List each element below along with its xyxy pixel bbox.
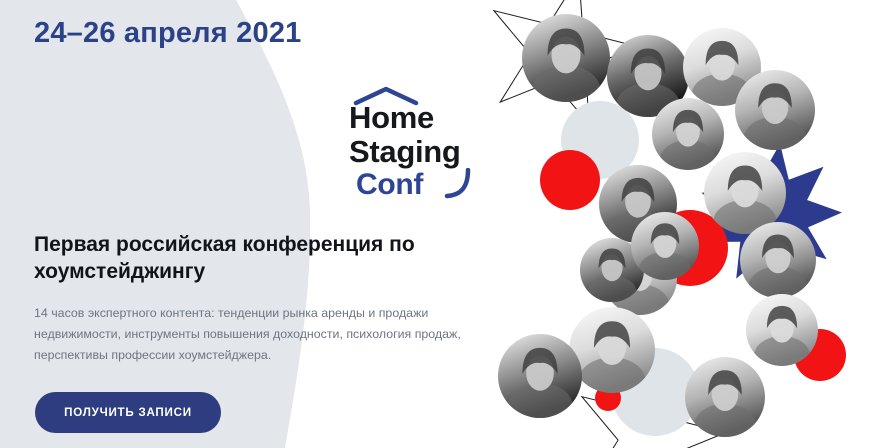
red-circle-left <box>540 150 600 210</box>
get-recordings-button[interactable]: ПОЛУЧИТЬ ЗАПИСИ <box>35 392 221 433</box>
page-title: Первая российская конференция по хоумсте… <box>34 232 464 286</box>
hero-content: 24–26 апреля 2021 Первая российская конф… <box>0 0 520 448</box>
portrait-speaker-1 <box>522 14 610 114</box>
hero-description: 14 часов экспертного контента: тенденции… <box>34 303 494 365</box>
portrait-speaker-14 <box>685 357 765 448</box>
event-date: 24–26 апреля 2021 <box>34 17 302 50</box>
portrait-speaker-4 <box>735 70 815 161</box>
hero-section: Home Staging Conf 24–26 апреля 2021 Перв… <box>0 0 871 448</box>
